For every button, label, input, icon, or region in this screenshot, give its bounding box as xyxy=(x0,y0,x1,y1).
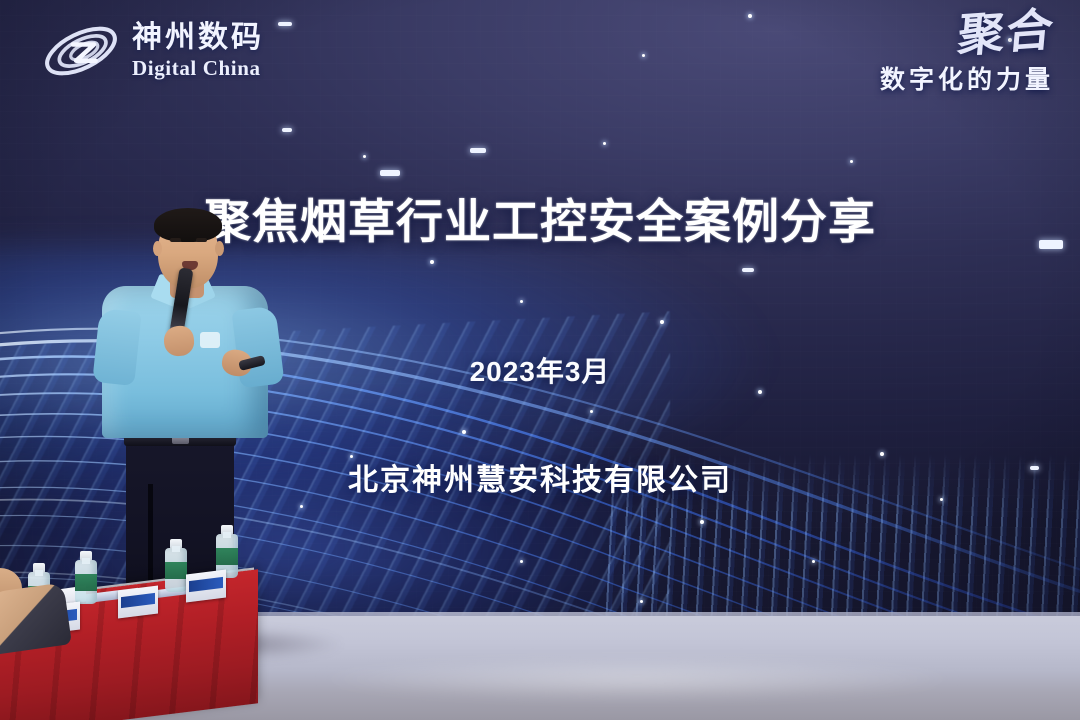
speaker-hair xyxy=(154,208,222,242)
name-card-band xyxy=(121,593,155,608)
digital-china-english-name: Digital China xyxy=(132,58,264,79)
conference-stage-photo: 神州数码 Digital China 聚合 数字化的力量 聚焦烟草行业工控安全案… xyxy=(0,0,1080,720)
speaker-ear-left xyxy=(153,241,162,256)
speaker-eye-left xyxy=(170,238,181,242)
event-tagline: 数字化的力量 xyxy=(880,60,1054,96)
name-card-band xyxy=(189,577,223,592)
speaker-ear-right xyxy=(215,241,224,256)
bottle-body xyxy=(75,560,97,604)
seated-attendee-arm xyxy=(0,582,72,655)
bottle-label xyxy=(216,548,238,565)
bottle-label xyxy=(165,562,187,579)
digital-china-chinese-name: 神州数码 xyxy=(132,23,264,53)
name-card xyxy=(118,586,158,619)
water-bottle xyxy=(75,560,97,604)
bottle-neck xyxy=(172,546,180,552)
shirt-chest-logo xyxy=(200,332,220,348)
bottle-neck xyxy=(223,532,231,538)
digital-china-swirl-icon xyxy=(40,20,122,82)
bottle-neck xyxy=(35,570,43,576)
speaker-eye-right xyxy=(196,238,207,242)
bottle-label xyxy=(75,574,97,591)
event-calligraphy-title: 聚合 xyxy=(877,8,1056,64)
digital-china-logo: 神州数码 Digital China xyxy=(40,20,264,82)
floor-reflection xyxy=(259,656,1015,702)
digital-china-wordmark: 神州数码 Digital China xyxy=(132,23,264,79)
speaker-left-sleeve xyxy=(92,308,142,386)
name-card xyxy=(186,570,226,603)
water-bottle xyxy=(165,548,187,592)
event-logo: 聚合 数字化的力量 xyxy=(880,14,1054,96)
bottle-neck xyxy=(82,558,90,564)
bottle-body xyxy=(165,548,187,592)
